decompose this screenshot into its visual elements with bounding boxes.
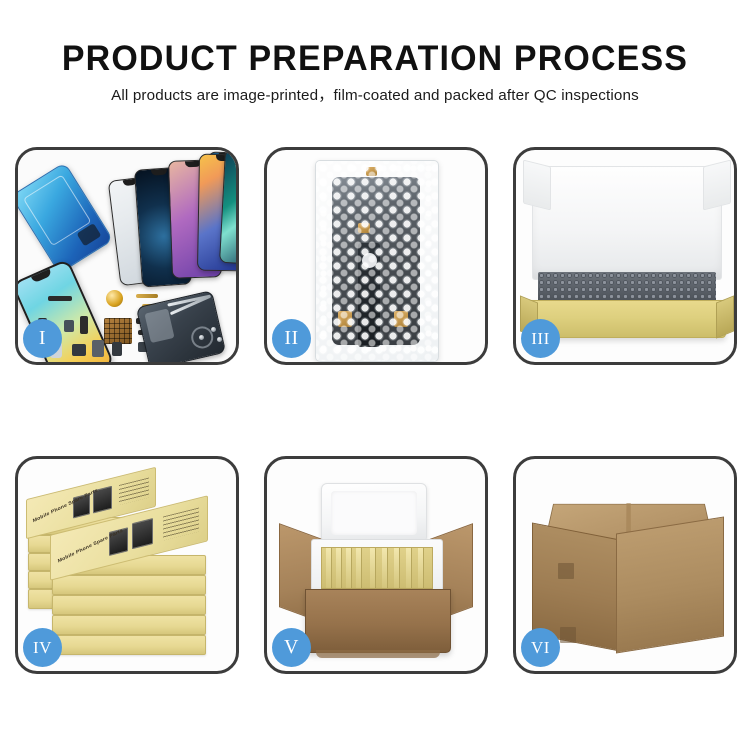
screw-icon [211, 327, 216, 332]
box-text-lines [163, 508, 199, 541]
step-badge-5: V [272, 628, 311, 667]
carton-tab-icon [560, 627, 576, 643]
step-badge-3: III [521, 319, 560, 358]
flex-cable-gold-icon [136, 294, 158, 298]
step-badge-6: VI [521, 628, 560, 667]
logic-board-chip-icon [104, 318, 132, 344]
step-panel-6: VI [513, 456, 737, 674]
step-badge-1: I [23, 319, 62, 358]
vibration-motor-icon [106, 290, 123, 307]
bubble-wrap-bag-icon [315, 160, 439, 362]
carton-right-face-icon [616, 516, 724, 653]
box-text-lines [119, 478, 149, 505]
gray-foam-padding-icon [538, 272, 716, 302]
phone-graphic-icon [132, 518, 153, 549]
infographic-header: PRODUCT PREPARATION PROCESS All products… [0, 0, 750, 105]
step-panel-2: II [264, 147, 488, 365]
speaker-module-icon [92, 340, 104, 357]
blue-adhesive-film-icon [18, 162, 114, 274]
carton-tab-icon [558, 563, 574, 579]
foam-box-lid-icon [321, 483, 427, 543]
process-steps-grid: I II III [15, 147, 737, 682]
step-panel-5: V [264, 456, 488, 674]
retail-box-edge [52, 635, 206, 655]
carton-body-icon [305, 589, 451, 653]
button-flex-icon [112, 342, 122, 356]
page-title: PRODUCT PREPARATION PROCESS [11, 40, 739, 78]
connector-icon [64, 320, 74, 332]
page-subtitle: All products are image-printed，film-coat… [0, 87, 750, 105]
flex-cable-icon [48, 296, 72, 301]
step-panel-3: III [513, 147, 737, 365]
retail-box-edge [52, 615, 206, 635]
bubble-texture-offset [316, 161, 438, 361]
step-panel-4: Mobile Phone Spare Parts Mobile Phone Sp… [15, 456, 239, 674]
retail-boxes-inside-icon [321, 547, 433, 589]
flex-cable-icon [80, 316, 88, 334]
screw-icon [217, 337, 222, 342]
step-badge-4: IV [23, 628, 62, 667]
mailer-box-lid-icon [532, 166, 722, 280]
screw-icon [199, 335, 204, 340]
retail-box-edge [52, 575, 206, 595]
step-panel-1: I [15, 147, 239, 365]
camera-module-icon [72, 344, 86, 356]
step-badge-2: II [272, 319, 311, 358]
retail-box-edge [52, 595, 206, 615]
